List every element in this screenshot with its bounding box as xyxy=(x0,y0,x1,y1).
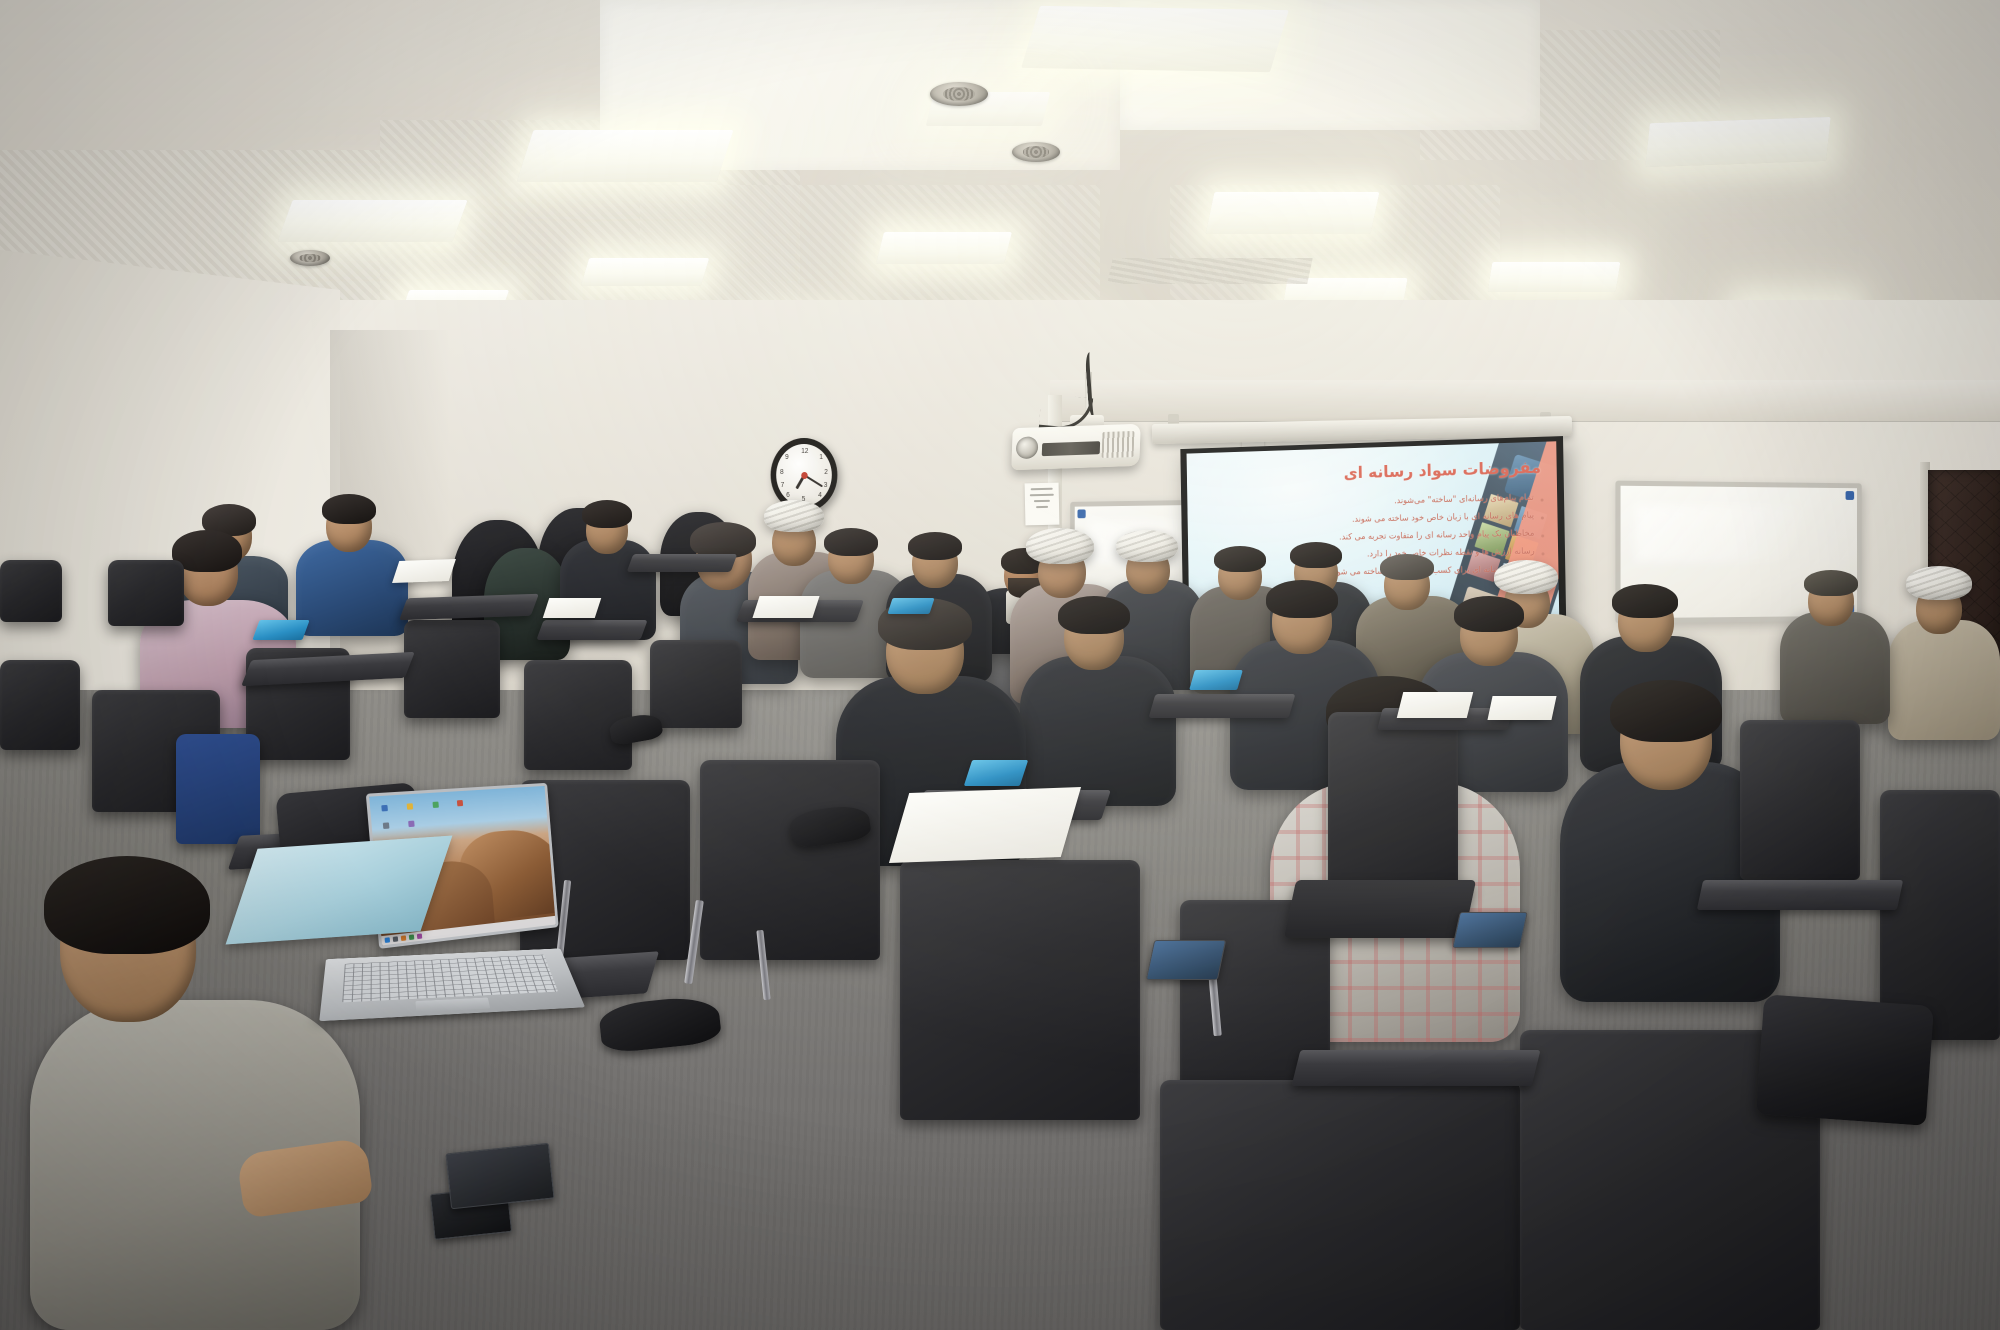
clock-numeral: 4 xyxy=(818,492,822,499)
cleric-turban xyxy=(764,500,824,532)
attendee-hair xyxy=(1612,584,1678,618)
attendee-torso xyxy=(1020,656,1176,806)
attendee-hair xyxy=(582,500,632,528)
whiteboard-clip xyxy=(1846,491,1855,500)
clock-numeral: 7 xyxy=(781,482,785,489)
attendee-hair xyxy=(1266,580,1338,618)
attendee-hair xyxy=(1380,554,1434,580)
cleric-turban xyxy=(1116,530,1178,562)
lecture-chair-seat[interactable] xyxy=(1284,880,1476,938)
notice-text-line xyxy=(1034,500,1051,502)
lecture-chair[interactable] xyxy=(108,560,184,626)
attendee-hair xyxy=(1214,546,1266,572)
paper-sheet xyxy=(752,596,819,618)
led-panel xyxy=(1206,192,1380,234)
laptop-trackpad[interactable] xyxy=(415,998,490,1012)
blue-notebook xyxy=(1189,670,1243,690)
clock-numeral: 1 xyxy=(819,454,823,461)
paper-sheet xyxy=(1397,692,1473,718)
paper-notepad xyxy=(889,787,1081,863)
desktop-icon[interactable] xyxy=(383,822,390,829)
foreground-hair xyxy=(44,856,210,954)
desktop-icon[interactable] xyxy=(457,800,463,806)
ceiling-soffit xyxy=(1050,380,2000,422)
clock-center-cap xyxy=(801,472,807,479)
notice-text-line xyxy=(1029,494,1054,497)
lecture-chair[interactable] xyxy=(700,760,880,960)
desktop-icon[interactable] xyxy=(409,820,416,827)
cleric-turban xyxy=(1026,528,1094,564)
wall-notice-sheet xyxy=(1025,483,1060,526)
led-panel xyxy=(1021,6,1289,72)
tablet-device[interactable] xyxy=(445,1143,554,1210)
tablet-arm-desk xyxy=(627,554,738,572)
tablet-device[interactable] xyxy=(1452,912,1528,948)
ceiling-vent xyxy=(1107,258,1313,284)
lecture-chair[interactable] xyxy=(900,860,1140,1120)
attendee-hair xyxy=(1610,680,1722,742)
clock-numeral: 2 xyxy=(824,469,828,476)
lecture-chair[interactable] xyxy=(0,560,62,622)
led-panel xyxy=(876,232,1012,264)
classroom-photograph: 12 1 2 3 4 5 6 7 8 9 xyxy=(0,0,2000,1330)
taskbar-icon[interactable] xyxy=(417,933,422,939)
cleric-turban xyxy=(1494,560,1558,594)
clock-numeral: 6 xyxy=(786,492,790,499)
desktop-icon[interactable] xyxy=(432,801,438,807)
attendee-hair xyxy=(1804,570,1858,596)
attendee-hair xyxy=(690,522,756,558)
taskbar-icon[interactable] xyxy=(409,934,414,940)
blue-notebook xyxy=(887,598,934,614)
lecture-chair[interactable] xyxy=(404,620,500,718)
clock-numeral: 3 xyxy=(824,482,828,489)
attendee-hair xyxy=(908,532,962,560)
clock-numeral: 9 xyxy=(785,454,789,461)
lecture-chair[interactable] xyxy=(1160,1080,1520,1330)
clock-face: 12 1 2 3 4 5 6 7 8 9 xyxy=(776,444,832,506)
notice-text-line xyxy=(1031,488,1053,490)
taskbar-icon[interactable] xyxy=(393,936,399,942)
clock-numeral: 12 xyxy=(801,448,808,455)
teal-folder xyxy=(226,835,453,944)
blue-notebook xyxy=(964,760,1028,786)
smoke-detector-icon xyxy=(930,82,988,106)
lecture-chair-blue-cushion[interactable] xyxy=(176,734,260,844)
start-button-icon[interactable] xyxy=(385,937,391,943)
slide-bullet: مخاطبان یک پیام واحد رسانه ای را متفاوت … xyxy=(1246,529,1544,544)
lecture-chair[interactable] xyxy=(1328,712,1458,892)
tablet-arm-desk xyxy=(1292,1050,1541,1086)
tablet-arm-desk xyxy=(536,620,647,640)
lecture-chair[interactable] xyxy=(1740,720,1860,880)
led-panel xyxy=(1488,262,1621,292)
desktop-icon[interactable] xyxy=(381,804,388,811)
led-panel xyxy=(1645,117,1830,167)
attendee-hair xyxy=(824,528,878,556)
ceiling-projector xyxy=(1011,424,1140,471)
attendee-hair xyxy=(1454,596,1524,632)
projector-control-panel xyxy=(1042,441,1100,456)
attendee-torso xyxy=(1780,612,1890,724)
clock-numeral: 8 xyxy=(780,469,784,476)
desktop-icon[interactable] xyxy=(407,803,414,810)
laptop-keyboard[interactable] xyxy=(342,955,558,1003)
attendee-hair xyxy=(1058,596,1130,634)
projector-vent-icon xyxy=(1102,431,1135,458)
taskbar-icon[interactable] xyxy=(401,935,406,941)
paper-sheet xyxy=(543,598,601,618)
lecture-chair[interactable] xyxy=(0,660,80,750)
led-panel xyxy=(581,258,710,286)
tablet-arm-desk xyxy=(1697,880,1903,910)
paper-sheet xyxy=(392,559,456,583)
led-panel xyxy=(517,130,734,182)
lecture-chair[interactable] xyxy=(524,660,632,770)
lecture-chair[interactable] xyxy=(1880,790,2000,1040)
slide-bullet: پیام های رسانه ای با زبان خاص خود ساخته … xyxy=(1246,512,1544,528)
attendee-hair xyxy=(322,494,376,524)
blue-notebook xyxy=(252,620,309,640)
cleric-robe xyxy=(1888,620,2000,740)
notice-text-line xyxy=(1036,506,1048,508)
tablet-device[interactable] xyxy=(1146,940,1227,980)
smoke-detector-icon xyxy=(290,250,330,266)
black-bag xyxy=(1756,994,1934,1126)
whiteboard-clip xyxy=(1077,509,1085,518)
attendee-torso xyxy=(296,540,408,636)
cleric-turban xyxy=(1906,566,1972,600)
projector-lens-icon xyxy=(1016,436,1039,459)
lecture-chair[interactable] xyxy=(650,640,742,728)
attendee-hair xyxy=(1290,542,1342,568)
led-panel xyxy=(277,200,467,242)
tablet-arm-desk xyxy=(1149,694,1296,718)
paper-sheet xyxy=(1487,696,1556,720)
smoke-detector-icon xyxy=(1012,142,1060,162)
